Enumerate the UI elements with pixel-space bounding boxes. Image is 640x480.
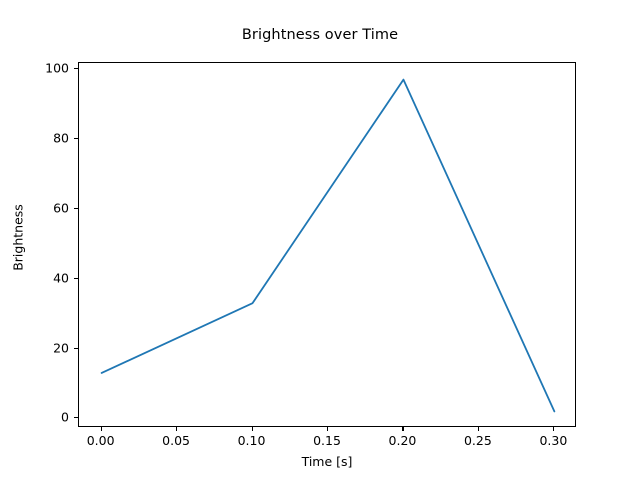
x-tick-label: 0.05 xyxy=(162,433,190,448)
x-tick-label: 0.10 xyxy=(238,433,266,448)
data-line-svg xyxy=(79,63,577,428)
y-tick-label: 40 xyxy=(53,270,69,285)
figure-canvas: Brightness over Time 020406080100 0.000.… xyxy=(0,0,640,480)
x-tick-label: 0.30 xyxy=(539,433,567,448)
x-tick-label: 0.00 xyxy=(87,433,115,448)
y-tick-label: 0 xyxy=(61,410,69,425)
x-tick-label: 0.25 xyxy=(464,433,492,448)
y-tick-label: 20 xyxy=(53,340,69,355)
x-axis-label: Time [s] xyxy=(78,454,576,469)
y-axis-label: Brightness xyxy=(11,168,26,308)
x-tick-label: 0.20 xyxy=(389,433,417,448)
plot-area xyxy=(78,62,576,427)
y-tick-label: 80 xyxy=(53,130,69,145)
y-tick-label: 60 xyxy=(53,200,69,215)
x-tick-label: 0.15 xyxy=(313,433,341,448)
y-tick-label: 100 xyxy=(45,61,69,76)
chart-title: Brightness over Time xyxy=(0,27,640,43)
series-line-brightness xyxy=(102,80,555,412)
